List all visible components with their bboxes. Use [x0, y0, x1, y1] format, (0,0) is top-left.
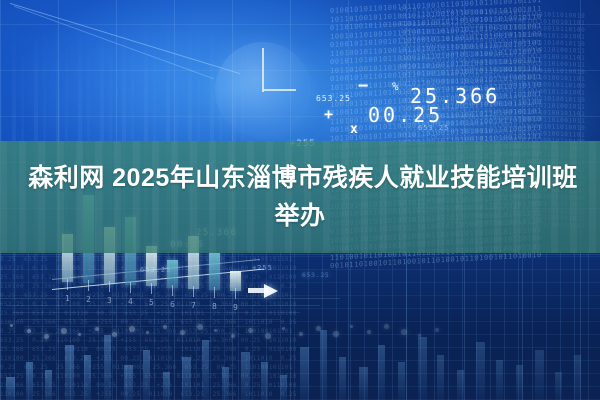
lower-chart-bar [26, 362, 33, 400]
lower-chart-dot [231, 334, 235, 338]
lower-chart-dot [61, 328, 67, 334]
lower-chart-bar [359, 367, 368, 400]
lower-chart-bar [516, 365, 523, 400]
lower-chart-dot [146, 331, 149, 334]
chart-axis-tick [172, 285, 173, 296]
overlay-multiply-sign: x [350, 122, 358, 137]
clock-minute-hand [262, 48, 264, 92]
chart-bar [167, 260, 178, 288]
lower-chart-dot [401, 329, 407, 335]
lower-chart-dot [248, 328, 253, 333]
overlay-plus-sign: + [324, 105, 333, 123]
lower-chart-dot [44, 334, 49, 339]
lower-chart-bar [574, 355, 581, 400]
lower-chart-dot [435, 328, 439, 332]
lower-chart-bar [496, 360, 503, 400]
chart-axis-arrow-head [264, 284, 278, 298]
lower-chart-dot [10, 324, 13, 327]
chart-axis-tick [88, 280, 89, 291]
lower-chart-dot [384, 324, 389, 329]
lower-chart-bar [65, 345, 74, 400]
lower-chart-dot [95, 327, 99, 331]
chart-axis-tick [151, 283, 152, 294]
lower-chart-bar [437, 355, 444, 400]
clock-icon [215, 42, 311, 138]
lower-chart-bar [280, 375, 287, 400]
chart-bar [209, 253, 220, 290]
chart-axis-tick [193, 286, 194, 297]
lower-chart-dot [367, 330, 371, 334]
page-title-line-2: 举办 [274, 198, 325, 234]
lower-chart-bar [104, 335, 111, 400]
lower-chart-bar [241, 352, 250, 400]
lower-chart-dot [78, 333, 81, 336]
chart-axis-tick [67, 279, 68, 290]
lower-chart-dot [333, 331, 339, 337]
chart-axis-tick [235, 288, 236, 299]
lower-chart-bar [202, 340, 209, 400]
lower-chart-bar [182, 357, 191, 400]
clock-hour-hand [263, 89, 296, 91]
lower-dot-series [0, 322, 600, 342]
lower-bar-chart [0, 300, 600, 400]
lower-chart-dot [180, 330, 185, 335]
lower-chart-bar [398, 362, 405, 400]
lower-chart-dot [350, 325, 353, 328]
lower-chart-dot [214, 329, 217, 332]
lower-chart-dot [316, 326, 321, 331]
lower-chart-bar [378, 345, 385, 400]
lower-chart-bar [124, 365, 133, 400]
lower-chart-bar [418, 337, 427, 400]
overlay-minus-sign: − [358, 76, 368, 96]
lower-chart-bar [555, 372, 562, 400]
lower-chart-bar [261, 362, 268, 400]
lower-chart-dot [418, 334, 421, 337]
banner-image: 0100101011010010110100101101001011010010… [0, 0, 600, 400]
overlay-number-653-25-faint3: 653.25 [302, 272, 330, 279]
lower-chart-dot [112, 332, 117, 337]
lower-chart-dot [129, 326, 135, 332]
overlay-number-653-25: 653.25 [316, 94, 351, 103]
lower-chart-bar [339, 357, 346, 400]
lower-chart-dot [265, 333, 271, 339]
lower-chart-bar [84, 355, 91, 400]
page-title-line-1: 森利网 2025年山东淄博市残疾人就业技能培训班 [22, 160, 578, 196]
lower-chart-bar [535, 350, 544, 400]
lower-chart-dot [163, 325, 167, 329]
lower-chart-dot [197, 324, 203, 330]
chart-axis-tick [214, 287, 215, 298]
lower-chart-dot [282, 327, 285, 330]
lower-chart-dot [299, 332, 303, 336]
lower-chart-bar [6, 377, 15, 400]
overlay-number-653-25-faint: 653.25 [418, 124, 449, 132]
lower-chart-bar [457, 370, 464, 400]
title-block: 森利网 2025年山东淄博市残疾人就业技能培训班 举办 [0, 141, 600, 253]
lower-chart-bar [222, 367, 229, 400]
lower-chart-bar [143, 350, 150, 400]
lower-chart-bar [163, 372, 170, 400]
lower-chart-bar [300, 347, 309, 400]
lower-chart-bar [476, 342, 485, 400]
overlay-percent-sign: % [392, 80, 399, 93]
lower-chart-dot [27, 329, 31, 333]
chart-axis-tick [109, 281, 110, 292]
chart-axis-tick [130, 282, 131, 293]
lower-chart-bar [45, 370, 52, 400]
